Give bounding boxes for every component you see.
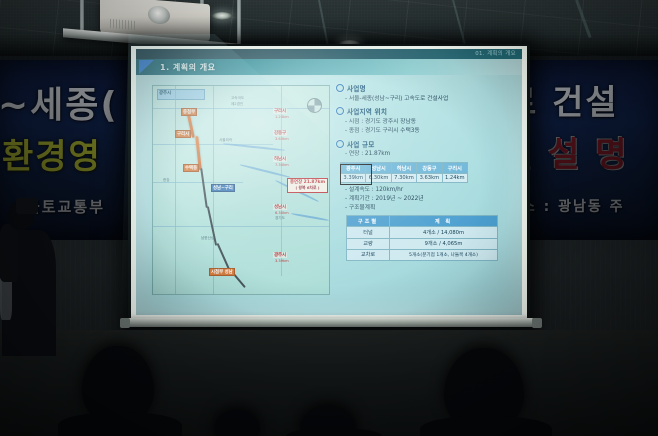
map-marker-route-name: 성남~구리 (211, 184, 235, 192)
distance-header-cell: 구리시 (442, 163, 467, 173)
distance-header-cell: 하남시 (391, 163, 416, 173)
structure-row-label: 교차로 (347, 249, 390, 260)
map-place-label: 경기도 (275, 216, 285, 221)
screen-roller-bar (126, 318, 534, 327)
audience-shoulders (420, 416, 552, 436)
distance-table: 광주시 성남시 하남시 강동구 구리시 3.39km 6.30km 7.30km… (340, 162, 468, 183)
recessed-downlight (212, 12, 232, 20)
compass-rose-icon (307, 98, 322, 113)
structure-row-value: 9개소 / 4,065m (390, 238, 498, 249)
map-callout-sub: ( 왕복 6차로 ) (295, 185, 319, 190)
map-road (175, 86, 176, 294)
map-place-label: 제2경인 (231, 102, 243, 107)
section-project-name: 사업명 - 서울-세종(성남~구리) 고속도로 건설사업 (336, 83, 516, 103)
distance-value-cell: 6.30km (366, 173, 391, 182)
camera-icon (16, 198, 38, 214)
map-place-label: 고속국도 (231, 96, 244, 101)
map-place-label: 한강 (163, 178, 170, 183)
map-section-label: 강동구 (273, 130, 287, 136)
map-marker-district: 수택동 (183, 164, 199, 172)
section-line: - 서울-세종(성남~구리) 고속도로 건설사업 (345, 95, 516, 104)
map-section-label: 하남시 (273, 156, 287, 162)
distance-header-cell: 강동구 (417, 163, 442, 173)
distance-header-cell: 광주시 (341, 163, 366, 173)
map-road (153, 226, 329, 227)
map-place-label: 서울외곽 (219, 138, 232, 143)
distance-value-cell: 3.39km (341, 173, 366, 182)
screen-roller-cap (120, 318, 130, 328)
map-section-distance: 6.30km (275, 211, 289, 215)
table-row: 교차로 5개소(분기점 1개소, 나들목 4개소) (347, 249, 498, 260)
conference-room-scene: ~세종( 환경영 국토교통부 로 건설 민 설 명 장소 : 광남동 주 01.… (0, 0, 658, 436)
section-line: - 시점 : 경기도 광주시 장남동 (345, 118, 516, 127)
structure-row-value: 5개소(분기점 1개소, 나들목 4개소) (390, 249, 498, 260)
route-map: 광주시 (152, 85, 330, 295)
distance-value-cell: 7.30km (391, 173, 416, 182)
detail-line-structure: - 구조물계획 (345, 204, 516, 213)
slide-corner-tag: 01. 계획의 개요 (475, 49, 516, 59)
slide-content-column: 사업명 - 서울-세종(성남~구리) 고속도로 건설사업 사업지역 위치 - 시… (336, 83, 516, 261)
section-heading: 사업 규모 (347, 139, 375, 149)
distance-value-cell: 3.63km (417, 173, 442, 182)
slide-title-triangle-icon (139, 60, 154, 74)
map-section-label: 광주시 (273, 252, 287, 258)
map-header-label: 광주시 (159, 90, 171, 96)
structure-row-label: 터널 (347, 227, 390, 238)
map-section-label: 성남시 (273, 204, 287, 210)
structure-row-label: 교량 (347, 238, 390, 249)
section-line: - 종점 : 경기도 구리시 수택3동 (345, 127, 516, 136)
table-row: 구조별 계 획 (347, 216, 498, 227)
structure-table: 구조별 계 획 터널 4개소 / 14,080m 교량 9개소 / 4,065m… (346, 215, 498, 261)
bullet-circle-icon (336, 84, 344, 92)
bullet-circle-icon (336, 140, 344, 148)
map-section-distance: 1.24km (275, 115, 289, 119)
slide-title: 1. 계획의 개요 (160, 60, 215, 75)
projector-vent (110, 19, 136, 30)
table-row: 광주시 성남시 하남시 강동구 구리시 (341, 163, 468, 173)
map-section-distance: 3.39km (275, 259, 289, 263)
structure-row-value: 4개소 / 14,080m (390, 227, 498, 238)
bullet-circle-icon (336, 107, 344, 115)
map-section-distance: 3.63km (275, 137, 289, 141)
distance-header-cell: 성남시 (366, 163, 391, 173)
table-row: 터널 4개소 / 14,080m (347, 227, 498, 238)
detail-line-speed: - 설계속도 : 120km/hr (345, 186, 516, 195)
structure-header-plan: 계 획 (390, 216, 498, 227)
slide-top-bar (136, 49, 522, 59)
audience-shoulders (286, 428, 382, 436)
map-place-label: 남한산성 (201, 236, 214, 241)
detail-line-period: - 계획기간 : 2019년 ~ 2022년 (345, 195, 516, 204)
screen-roller-cap (532, 318, 542, 328)
map-marker-city: 구리시 (175, 130, 191, 138)
distance-value-cell: 1.24km (442, 173, 467, 182)
person-with-camera (0, 196, 56, 356)
map-total-length-callout: 총연장 21.87km ( 왕복 6차로 ) (287, 178, 328, 193)
section-heading: 사업명 (347, 83, 366, 93)
table-row: 교량 9개소 / 4,065m (347, 238, 498, 249)
section-heading: 사업지역 위치 (347, 106, 387, 116)
slide: 01. 계획의 개요 1. 계획의 개요 광주시 (136, 49, 522, 315)
photographer-arm (0, 224, 18, 282)
section-project-location: 사업지역 위치 - 시점 : 경기도 광주시 장남동 - 종점 : 경기도 구리… (336, 106, 516, 135)
map-section-distance: 7.30km (275, 163, 289, 167)
map-section-label: 구리시 (273, 108, 287, 114)
map-marker-endpoint: 종점부 (181, 108, 197, 116)
projection-screen: 01. 계획의 개요 1. 계획의 개요 광주시 (136, 49, 522, 315)
map-road (153, 108, 329, 109)
section-project-scale: 사업 규모 - 연장 : 21.87km (336, 139, 516, 159)
table-row: 3.39km 6.30km 7.30km 3.63km 1.24km (341, 173, 468, 182)
audience-shoulders (58, 412, 182, 436)
structure-header-type: 구조별 (347, 216, 390, 227)
map-marker-start: 시점부 성남 (209, 268, 235, 276)
section-line: - 연장 : 21.87km (345, 150, 516, 159)
